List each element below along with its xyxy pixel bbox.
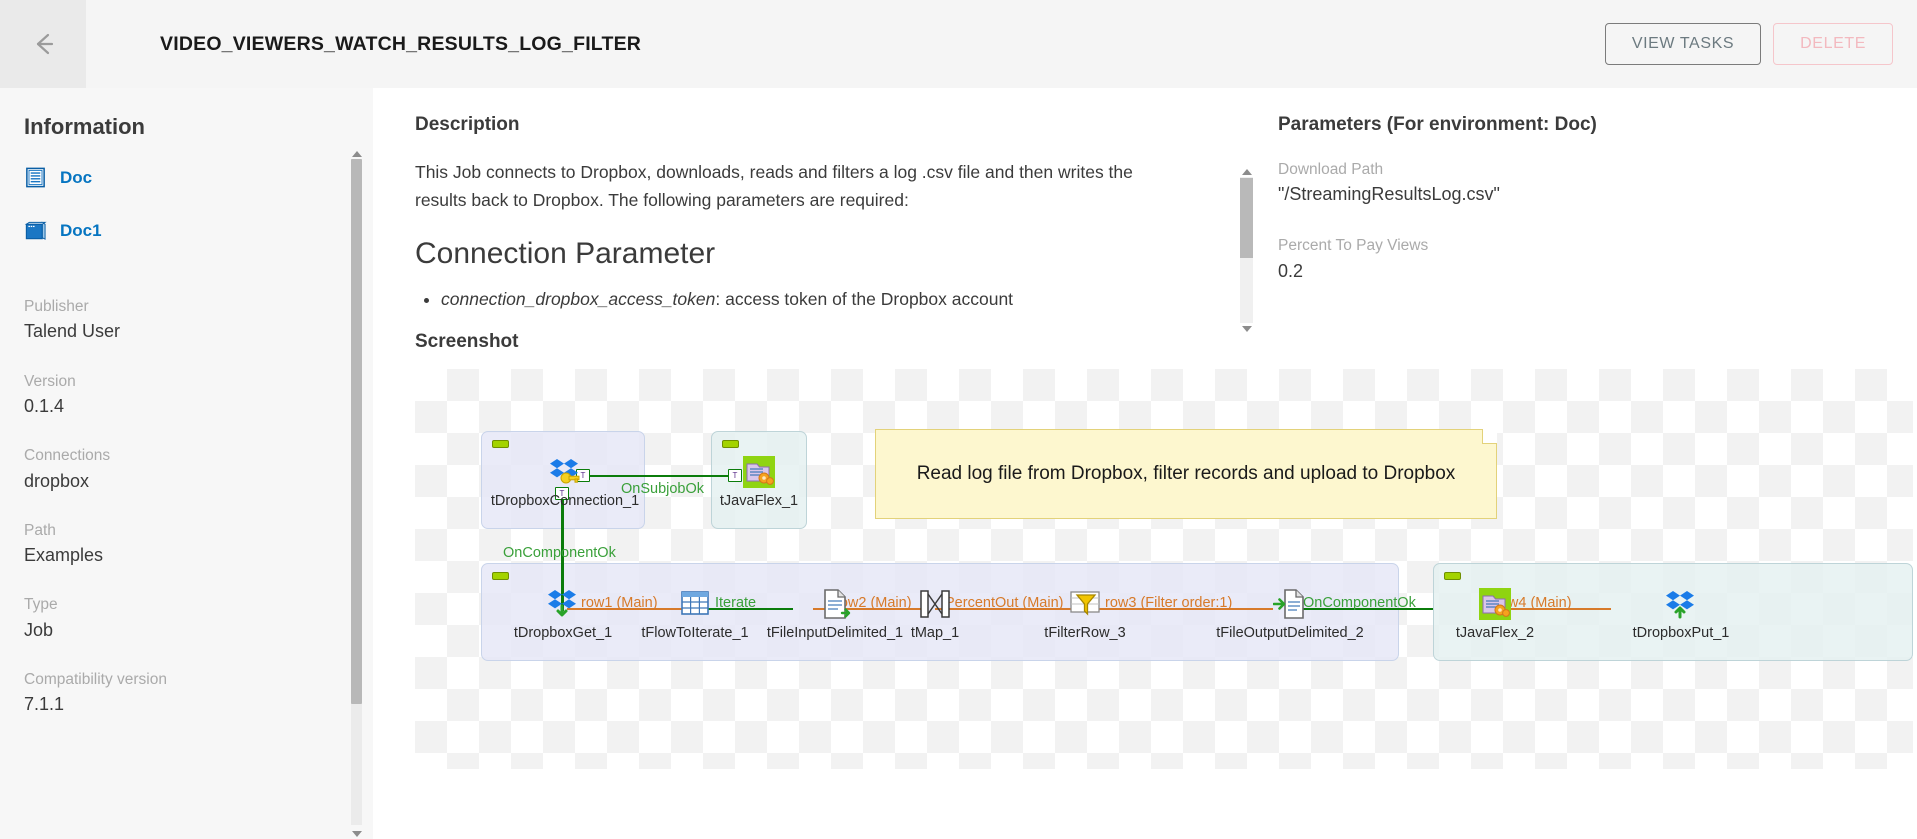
parameter-download-path: Download Path "/StreamingResultsLog.csv" [1278,158,1917,208]
page-title: VIDEO_VIEWERS_WATCH_RESULTS_LOG_FILTER [160,33,641,56]
node-tmap-1[interactable]: tMap_1 [885,587,985,641]
node-tdropboxput-1[interactable]: tDropboxPut_1 [1611,587,1751,641]
field-value: 7.1.1 [24,691,373,717]
node-label: tJavaFlex_1 [715,493,803,509]
page-body: Information Doc [0,88,1917,839]
parameter-value: 0.2 [1278,258,1917,285]
dropbox-key-icon [548,455,582,489]
dropbox-download-icon [546,587,580,621]
subjob-collapse-chip[interactable] [492,440,509,448]
parameters-heading: Parameters (For environment: Doc) [1278,114,1917,136]
description-column: Description This Job connects to Dropbox… [373,114,1233,313]
field-key: Compatibility version [24,669,373,691]
sidebar-doc1-label: Doc1 [60,221,102,241]
sidebar-field-connections: Connections dropbox [24,445,373,494]
node-tfileoutputdelimited-2[interactable]: tFileOutputDelimited_2 [1195,587,1385,641]
scrollbar-thumb[interactable] [1240,178,1253,258]
node-label: tDropboxPut_1 [1611,625,1751,641]
header-bar: VIDEO_VIEWERS_WATCH_RESULTS_LOG_FILTER V… [86,0,1917,88]
node-tjavaflex-2[interactable]: tJavaFlex_2 [1435,587,1555,641]
sidebar-spacer [24,272,373,296]
node-label: tFlowToIterate_1 [625,625,765,641]
parameter-percent-to-pay-views: Percent To Pay Views 0.2 [1278,234,1917,284]
filter-row-icon [1068,587,1102,621]
bullet-text: : access token of the Dropbox account [715,289,1013,309]
sidebar-field-publisher: Publisher Talend User [24,296,373,345]
description-subheading: Connection Parameter [415,237,1215,271]
job-diagram-canvas: T T OnSubjobOk T OnComponentOk row1 ( [415,369,1913,769]
subjob-collapse-chip[interactable] [1444,572,1461,580]
document-list-icon [24,166,47,189]
scroll-down-icon[interactable] [1240,323,1253,334]
field-key: Version [24,371,373,393]
scroll-down-icon[interactable] [351,829,362,839]
note-text: Read log file from Dropbox, filter recor… [895,463,1478,485]
node-label: tFilterRow_3 [1015,625,1155,641]
field-key: Publisher [24,296,373,318]
sidebar-scrollbar[interactable] [351,149,362,839]
field-key: Type [24,594,373,616]
field-value: Examples [24,542,373,568]
sidebar-field-compatibility-version: Compatibility version 7.1.1 [24,669,373,718]
node-label: tFileOutputDelimited_2 [1195,625,1385,641]
list-item: connection_dropbox_access_token: access … [441,285,1215,313]
node-label: tDropboxGet_1 [493,625,633,641]
field-value: Job [24,617,373,643]
sidebar-doc1-link[interactable]: Doc1 [24,219,373,242]
file-output-icon [1273,587,1307,621]
node-tdropboxget-1[interactable]: tDropboxGet_1 [493,587,633,641]
description-body: This Job connects to Dropbox, downloads,… [415,158,1215,313]
diagram-note: Read log file from Dropbox, filter recor… [875,429,1497,519]
sidebar-doc-label: Doc [60,168,92,188]
node-tjavaflex-1[interactable]: tJavaFlex_1 [715,455,803,509]
page-header: VIDEO_VIEWERS_WATCH_RESULTS_LOG_FILTER V… [0,0,1917,88]
parameter-key: Percent To Pay Views [1278,234,1917,257]
parameters-column: Parameters (For environment: Doc) Downlo… [1233,114,1917,313]
node-label: tDropboxConnection_1 [485,493,645,509]
parameter-key: Download Path [1278,158,1917,181]
job-details-page: VIDEO_VIEWERS_WATCH_RESULTS_LOG_FILTER V… [0,0,1917,839]
information-sidebar: Information Doc [0,88,373,839]
field-value: Talend User [24,318,373,344]
screenshot-heading: Screenshot [415,331,1917,353]
field-key: Connections [24,445,373,467]
note-fold-corner [1482,429,1497,444]
top-columns: Description This Job connects to Dropbox… [373,114,1917,313]
bullet-term: connection_dropbox_access_token [441,289,715,309]
description-bullet-list: connection_dropbox_access_token: access … [415,285,1215,313]
description-scrollbar[interactable] [1240,166,1253,334]
description-paragraph: This Job connects to Dropbox, downloads,… [415,158,1155,215]
arrow-left-icon [26,27,60,61]
field-key: Path [24,520,373,542]
link-label-oncomponentok: OnComponentOk [503,545,616,561]
file-input-icon [818,587,852,621]
scroll-up-icon[interactable] [1240,166,1253,177]
sidebar-field-version: Version 0.1.4 [24,371,373,420]
scroll-up-icon[interactable] [351,149,362,159]
node-label: tJavaFlex_2 [1435,625,1555,641]
parameter-value: "/StreamingResultsLog.csv" [1278,181,1917,208]
delete-button[interactable]: DELETE [1773,23,1893,65]
node-tfilterrow-3[interactable]: tFilterRow_3 [1015,587,1155,641]
node-tdropboxconnection-1[interactable]: tDropboxConnection_1 [485,455,645,509]
java-flex-icon [1478,587,1512,621]
sidebar-doc-link[interactable]: Doc [24,166,373,189]
field-value: 0.1.4 [24,393,373,419]
subjob-collapse-chip[interactable] [722,440,739,448]
header-actions: VIEW TASKS DELETE [1605,23,1893,65]
flow-to-iterate-icon [678,587,712,621]
sidebar-field-type: Type Job [24,594,373,643]
subjob-collapse-chip[interactable] [492,572,509,580]
description-heading: Description [415,114,1233,136]
main-content: Description This Job connects to Dropbox… [373,88,1917,839]
java-flex-icon [742,455,776,489]
view-tasks-button[interactable]: VIEW TASKS [1605,23,1761,65]
node-label: tMap_1 [885,625,985,641]
sidebar-title: Information [24,114,373,140]
screenshot-section: Screenshot [373,331,1917,769]
book-icon [24,219,47,242]
dropbox-upload-icon [1664,587,1698,621]
node-tflowtoiterate-1[interactable]: tFlowToIterate_1 [625,587,765,641]
tmap-icon [918,587,952,621]
scrollbar-thumb[interactable] [351,159,362,704]
field-value: dropbox [24,468,373,494]
back-button[interactable] [0,0,86,88]
sidebar-field-path: Path Examples [24,520,373,569]
